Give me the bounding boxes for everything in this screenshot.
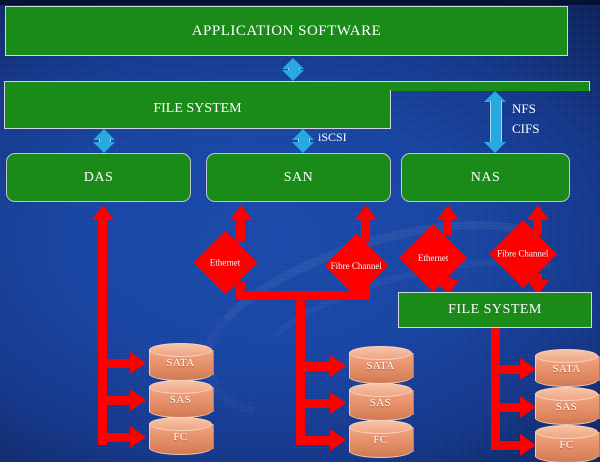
- nas-branch-3-arrow-icon: [520, 434, 536, 456]
- iscsi-protocol-label: iSCSI: [318, 130, 347, 145]
- san-drive-sas-label: SAS: [349, 394, 412, 412]
- san-drive-sata: SATA: [349, 346, 412, 382]
- san-ethernet-arrow-head-icon: [230, 205, 252, 220]
- san-branch-3-arrow-icon: [330, 429, 346, 451]
- filesystem-to-das-arrow: [92, 129, 116, 153]
- nas-box: NAS: [401, 153, 570, 202]
- san-drive-sas: SAS: [349, 383, 412, 419]
- das-box: DAS: [6, 153, 191, 202]
- das-branch-3: [98, 433, 134, 442]
- arrow-head-down-icon: [93, 142, 115, 153]
- nas-drive-sata: SATA: [535, 349, 598, 385]
- san-drive-sata-label: SATA: [349, 357, 412, 375]
- nas-fibre-channel-label: Fibre Channel: [497, 249, 548, 259]
- cifs-protocol-label: CIFS: [512, 121, 539, 137]
- das-drive-fc: FC: [149, 417, 212, 453]
- storage-architecture-diagram: APPLICATION SOFTWARE FILE SYSTEM iSCSI N…: [0, 0, 600, 462]
- das-branch-2: [98, 396, 134, 405]
- san-label: SAN: [284, 170, 314, 186]
- nas-fc-arrow-head-icon: [527, 205, 549, 220]
- das-drive-sas: SAS: [149, 380, 212, 416]
- nas-ethernet-up-line: [443, 219, 452, 235]
- arrow-head-down-icon: [282, 70, 304, 81]
- nas-trunk-line: [491, 328, 500, 450]
- nas-drive-fc-label: FC: [535, 436, 598, 454]
- file-system-box: FILE SYSTEM: [4, 90, 391, 129]
- application-software-label: APPLICATION SOFTWARE: [192, 23, 382, 40]
- das-label: DAS: [84, 170, 114, 186]
- nas-ethernet-label: Ethernet: [418, 253, 449, 263]
- filesystem-to-san-arrow: [291, 129, 315, 153]
- das-drive-fc-label: FC: [149, 428, 212, 446]
- filesystem-to-nas-arrow: [483, 91, 509, 154]
- san-ethernet-label: Ethernet: [210, 258, 241, 268]
- nfs-protocol-label: NFS: [512, 101, 536, 117]
- san-branch-3: [296, 436, 334, 445]
- das-trunk-line: [98, 219, 107, 445]
- file-system-label: FILE SYSTEM: [153, 101, 241, 117]
- san-fibre-channel-label: Fibre Channel: [331, 261, 382, 271]
- arrow-head-down-icon: [484, 142, 506, 153]
- san-drive-fc-label: FC: [349, 431, 412, 449]
- das-arrow-head-icon: [92, 205, 114, 220]
- san-fibre-channel-diamond: Fibre Channel: [325, 234, 389, 298]
- das-drive-sas-label: SAS: [149, 391, 212, 409]
- nas-fibre-channel-diamond: Fibre Channel: [489, 220, 557, 288]
- das-branch-2-arrow-icon: [130, 389, 146, 411]
- nas-drive-fc: FC: [535, 425, 598, 461]
- nas-file-system-label: FILE SYSTEM: [448, 302, 542, 318]
- das-branch-1-arrow-icon: [130, 352, 146, 374]
- application-software-box: APPLICATION SOFTWARE: [5, 6, 568, 56]
- san-branch-1: [296, 362, 334, 371]
- das-branch-3-arrow-icon: [130, 426, 146, 448]
- app-to-filesystem-arrow: [281, 58, 305, 81]
- san-trunk-line: [296, 297, 305, 445]
- san-ethernet-up-line: [236, 219, 245, 241]
- san-fc-up-line: [361, 219, 370, 241]
- san-drive-fc: FC: [349, 420, 412, 456]
- das-drive-sata: SATA: [149, 343, 212, 379]
- nas-drive-sata-label: SATA: [535, 360, 598, 378]
- nas-file-system-box: FILE SYSTEM: [398, 292, 592, 328]
- san-ethernet-diamond: Ethernet: [194, 231, 258, 295]
- das-drive-sata-label: SATA: [149, 354, 212, 372]
- san-branch-2: [296, 399, 334, 408]
- nas-label: NAS: [471, 170, 501, 186]
- nas-ethernet-arrow-head-icon: [437, 205, 459, 220]
- san-branch-2-arrow-icon: [330, 392, 346, 414]
- nas-branch-2-arrow-icon: [520, 396, 536, 418]
- top-edge-band: [0, 0, 600, 5]
- san-box: SAN: [206, 153, 391, 202]
- arrow-shaft: [490, 101, 502, 143]
- arrow-head-down-icon: [292, 142, 314, 153]
- nas-drive-sas-label: SAS: [535, 398, 598, 416]
- san-branch-1-arrow-icon: [330, 355, 346, 377]
- nas-branch-1-arrow-icon: [520, 358, 536, 380]
- nas-drive-sas: SAS: [535, 387, 598, 423]
- san-fc-arrow-head-icon: [355, 205, 377, 220]
- das-branch-1: [98, 359, 134, 368]
